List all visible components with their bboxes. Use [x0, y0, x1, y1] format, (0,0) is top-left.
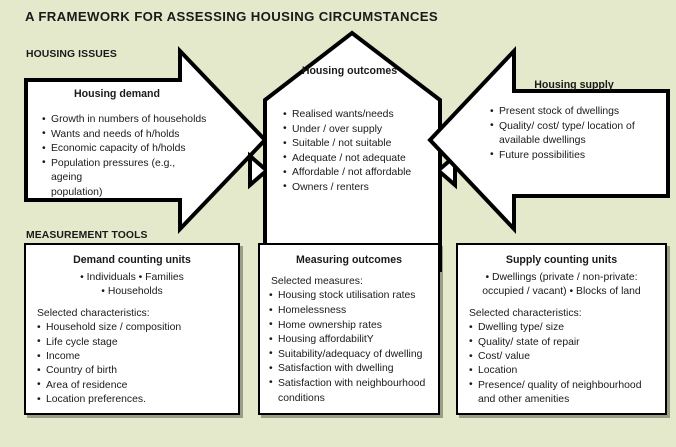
supply-characteristics-list: Dwelling type/ size Quality/ state of re… [469, 321, 656, 407]
housing-supply-list: Present stock of dwellings Quality/ cost… [490, 105, 660, 163]
list-item: Economic capacity of h/holds [42, 142, 207, 157]
selected-measures-lead: Selected measures: [271, 275, 429, 289]
list-item: Affordable / not affordable [283, 166, 433, 181]
list-item: Adequate / not adequate [283, 152, 433, 167]
list-item: Housing affordabilitY [269, 333, 429, 348]
selected-characteristics-lead: Selected characteristics: [469, 307, 656, 321]
measuring-outcomes-card: Measuring outcomes Selected measures: Ho… [258, 243, 440, 415]
list-item: Quality/ cost/ type/ location of [490, 120, 660, 135]
list-item: Owners / renters [283, 181, 433, 196]
list-item: Realised wants/needs [283, 108, 433, 123]
list-item-continuation: and other amenities [469, 393, 656, 407]
list-item: Presence/ quality of neighbourhood [469, 379, 656, 393]
centered-bullets-line-2: • Households [35, 285, 229, 299]
housing-outcomes-title: Housing outcomes [272, 65, 427, 77]
list-item: Wants and needs of h/holds [42, 128, 207, 143]
centered-bullets-line-1: • Individuals • Families [35, 271, 229, 285]
list-item: Location preferences. [37, 393, 229, 407]
list-item: Under / over supply [283, 123, 433, 138]
list-item: Life cycle stage [37, 336, 229, 350]
list-item: Quality/ state of repair [469, 336, 656, 350]
list-item: Suitability/adequacy of dwelling [269, 348, 429, 363]
housing-demand-list: Growth in numbers of households Wants an… [42, 113, 207, 201]
selected-characteristics-lead: Selected characteristics: [37, 307, 229, 321]
card-title: Supply counting units [467, 254, 656, 266]
list-item: Growth in numbers of households [42, 113, 207, 128]
housing-outcomes-list: Realised wants/needs Under / over supply… [283, 108, 433, 196]
list-item: Housing stock utilisation rates [269, 289, 429, 304]
list-item: Income [37, 350, 229, 364]
centered-bullets-line-2: occupied / vacant) • Blocks of land [467, 285, 656, 299]
list-item: Present stock of dwellings [490, 105, 660, 120]
list-item-continuation: conditions [269, 392, 429, 407]
housing-supply-title: Housing supply [500, 79, 648, 91]
measuring-outcomes-list: Housing stock utilisation rates Homeless… [269, 289, 429, 406]
list-item: Cost/ value [469, 350, 656, 364]
diagram-canvas: A FRAMEWORK FOR ASSESSING HOUSING CIRCUM… [0, 0, 676, 447]
card-title: Measuring outcomes [269, 254, 429, 266]
list-item: Household size / composition [37, 321, 229, 335]
list-item: Country of birth [37, 364, 229, 378]
card-title: Demand counting units [35, 254, 229, 266]
list-item: Location [469, 364, 656, 378]
demand-counting-units-card: Demand counting units • Individuals • Fa… [24, 243, 240, 415]
list-item: Homelessness [269, 304, 429, 319]
centered-bullets-line-1: • Dwellings (private / non-private: [467, 271, 656, 285]
list-item: Future possibilities [490, 149, 660, 164]
list-item: Area of residence [37, 379, 229, 393]
housing-demand-title: Housing demand [42, 88, 192, 100]
supply-counting-units-card: Supply counting units • Dwellings (priva… [456, 243, 667, 415]
list-item: Home ownership rates [269, 319, 429, 334]
list-item: Suitable / not suitable [283, 137, 433, 152]
list-item: Population pressures (e.g., ageing [42, 157, 207, 186]
list-item: Satisfaction with neighbourhood [269, 377, 429, 392]
list-item-continuation: population) [42, 186, 207, 201]
list-item: Dwelling type/ size [469, 321, 656, 335]
list-item-continuation: available dwellings [490, 134, 660, 149]
demand-characteristics-list: Household size / composition Life cycle … [37, 321, 229, 407]
list-item: Satisfaction with dwelling [269, 362, 429, 377]
